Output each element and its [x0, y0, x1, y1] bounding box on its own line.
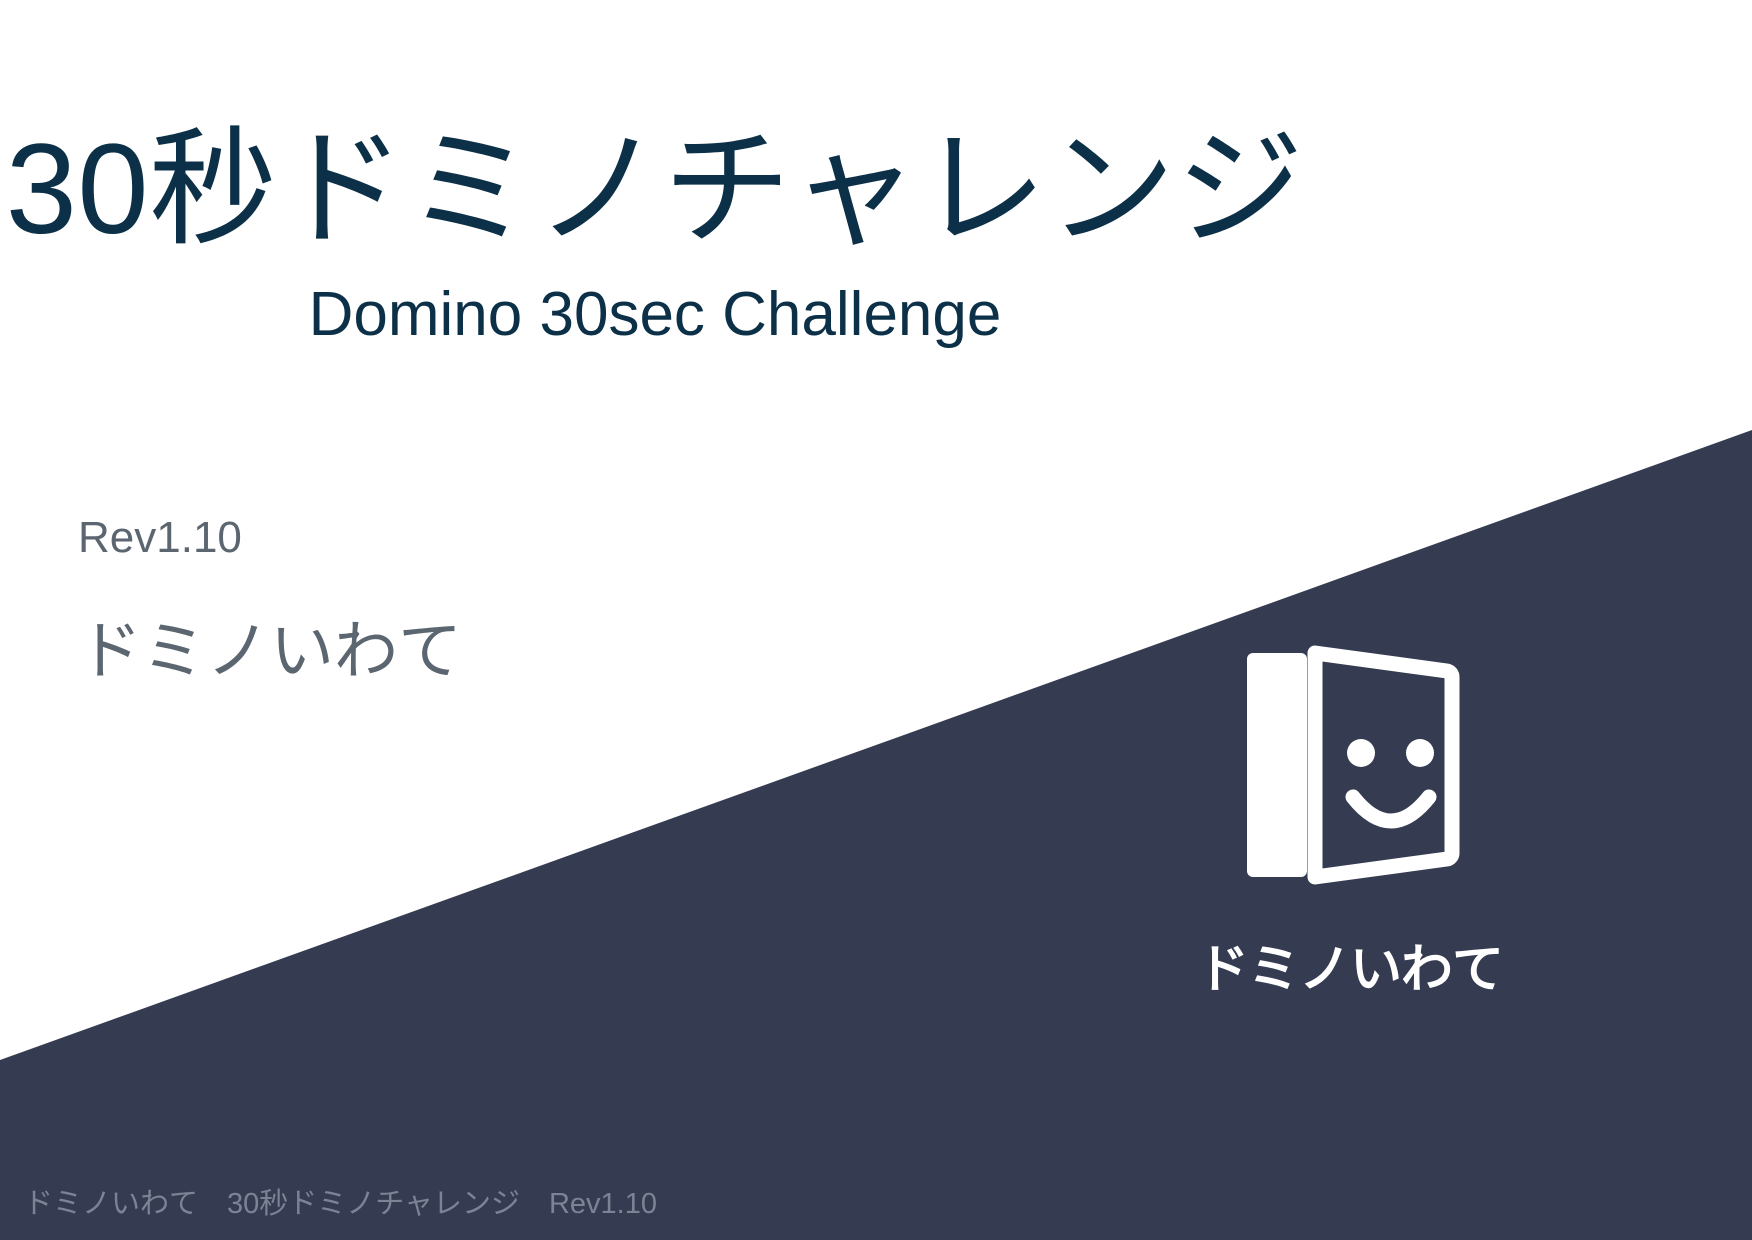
title-block: 30秒ドミノチャレンジ Domino 30sec Challenge [0, 118, 1310, 351]
logo-wordmark-icon: ドミノいわて [1190, 937, 1510, 999]
domino-tile-smiley-icon [1235, 645, 1465, 885]
svg-text:ドミノいわて: ドミノいわて [1197, 941, 1503, 999]
slide-subtitle-english: Domino 30sec Challenge [0, 279, 1310, 350]
title-slide: 30秒ドミノチャレンジ Domino 30sec Challenge Rev1.… [0, 0, 1752, 1240]
meta-block: Rev1.10 ドミノいわて [78, 512, 462, 690]
slide-title-japanese: 30秒ドミノチャレンジ [0, 118, 1310, 261]
slide-footer: ドミノいわて 30秒ドミノチャレンジ Rev1.10 [24, 1187, 657, 1222]
logo-lockup: ドミノいわて [1185, 645, 1515, 1065]
organization-name: ドミノいわて [78, 613, 462, 690]
revision-label: Rev1.10 [78, 512, 462, 565]
